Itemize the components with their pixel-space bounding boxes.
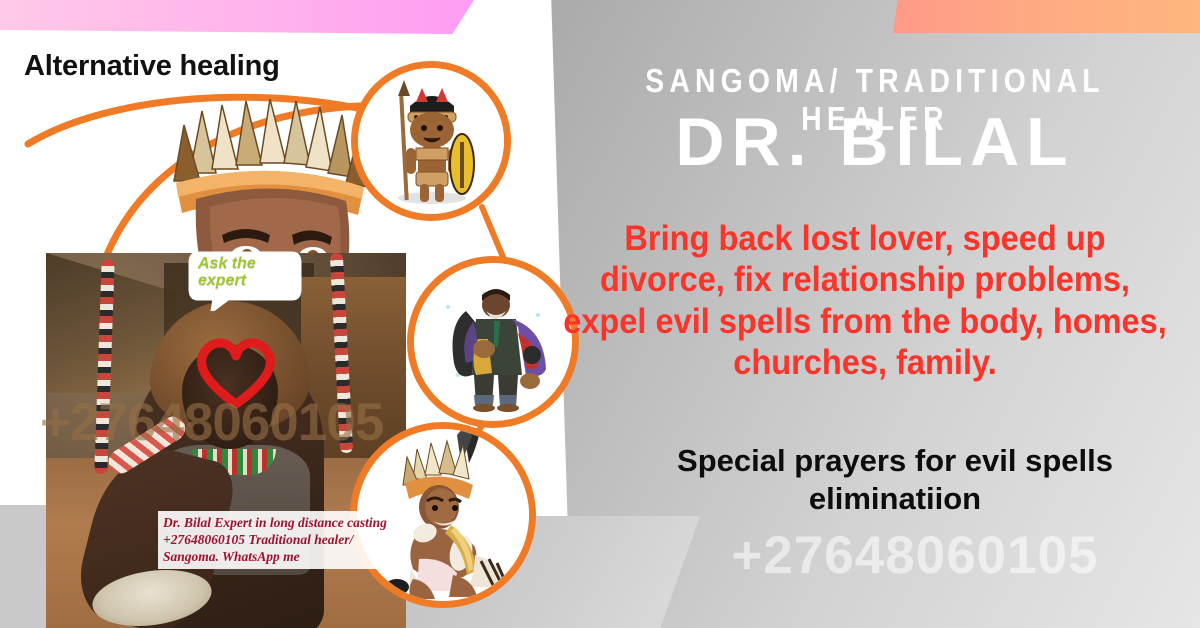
circle-cloaked-healer: [407, 256, 579, 428]
top-pink-bar: [0, 0, 474, 34]
healer-name: DR. BILAL: [570, 103, 1180, 181]
poster-canvas: Alternative healing: [0, 0, 1200, 628]
cloaked-healer-icon: [414, 263, 572, 421]
grey-left-nub: [0, 505, 46, 628]
phone-watermark: +27648060105: [630, 525, 1200, 586]
special-offer-text: Special prayers for evil spells eliminat…: [600, 442, 1190, 518]
top-orange-bar: [893, 0, 1200, 33]
services-text: Bring back lost lover, speed up divorce,…: [563, 218, 1168, 383]
page-title: Alternative healing: [24, 50, 280, 83]
photo-caption: Dr. Bilal Expert in long distance castin…: [158, 511, 396, 569]
speech-bubble-text: Ask the expert: [198, 256, 298, 290]
photo-phone-watermark: +27648060105: [40, 392, 383, 453]
circle-zulu-warrior: [351, 61, 511, 221]
zulu-warrior-icon: [358, 68, 504, 214]
